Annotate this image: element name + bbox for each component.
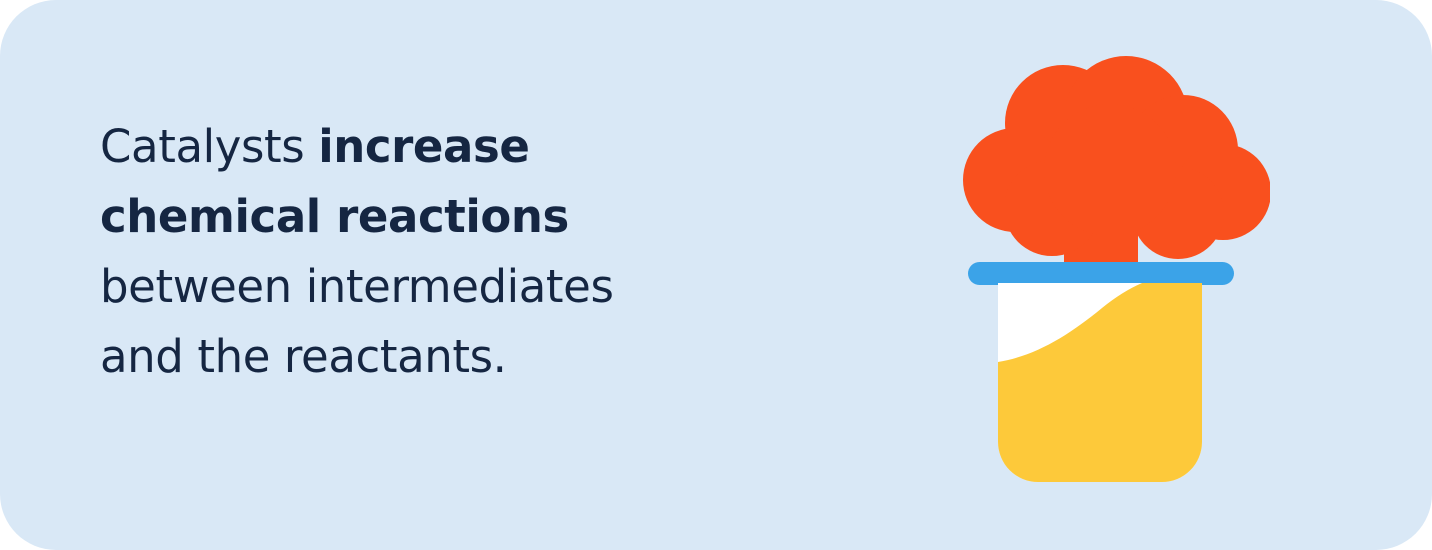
beaker-explosion-illustration	[940, 40, 1270, 500]
text-segment-bold: increase	[318, 120, 529, 173]
text-segment-bold: chemical reactions	[100, 190, 569, 243]
text-segment-regular: between intermediates	[100, 260, 614, 313]
text-line-1: Catalysts increase	[100, 112, 760, 182]
info-card: Catalysts increase chemical reactions be…	[0, 0, 1432, 550]
text-line-4: and the reactants.	[100, 322, 760, 392]
beaker-rim	[968, 262, 1234, 285]
text-segment-regular: and the reactants.	[100, 330, 507, 383]
text-line-3: between intermediates	[100, 252, 760, 322]
text-segment-regular: Catalysts	[100, 120, 318, 173]
text-line-2: chemical reactions	[100, 182, 760, 252]
explosion-cloud	[963, 56, 1270, 259]
card-text-block: Catalysts increase chemical reactions be…	[100, 112, 760, 392]
